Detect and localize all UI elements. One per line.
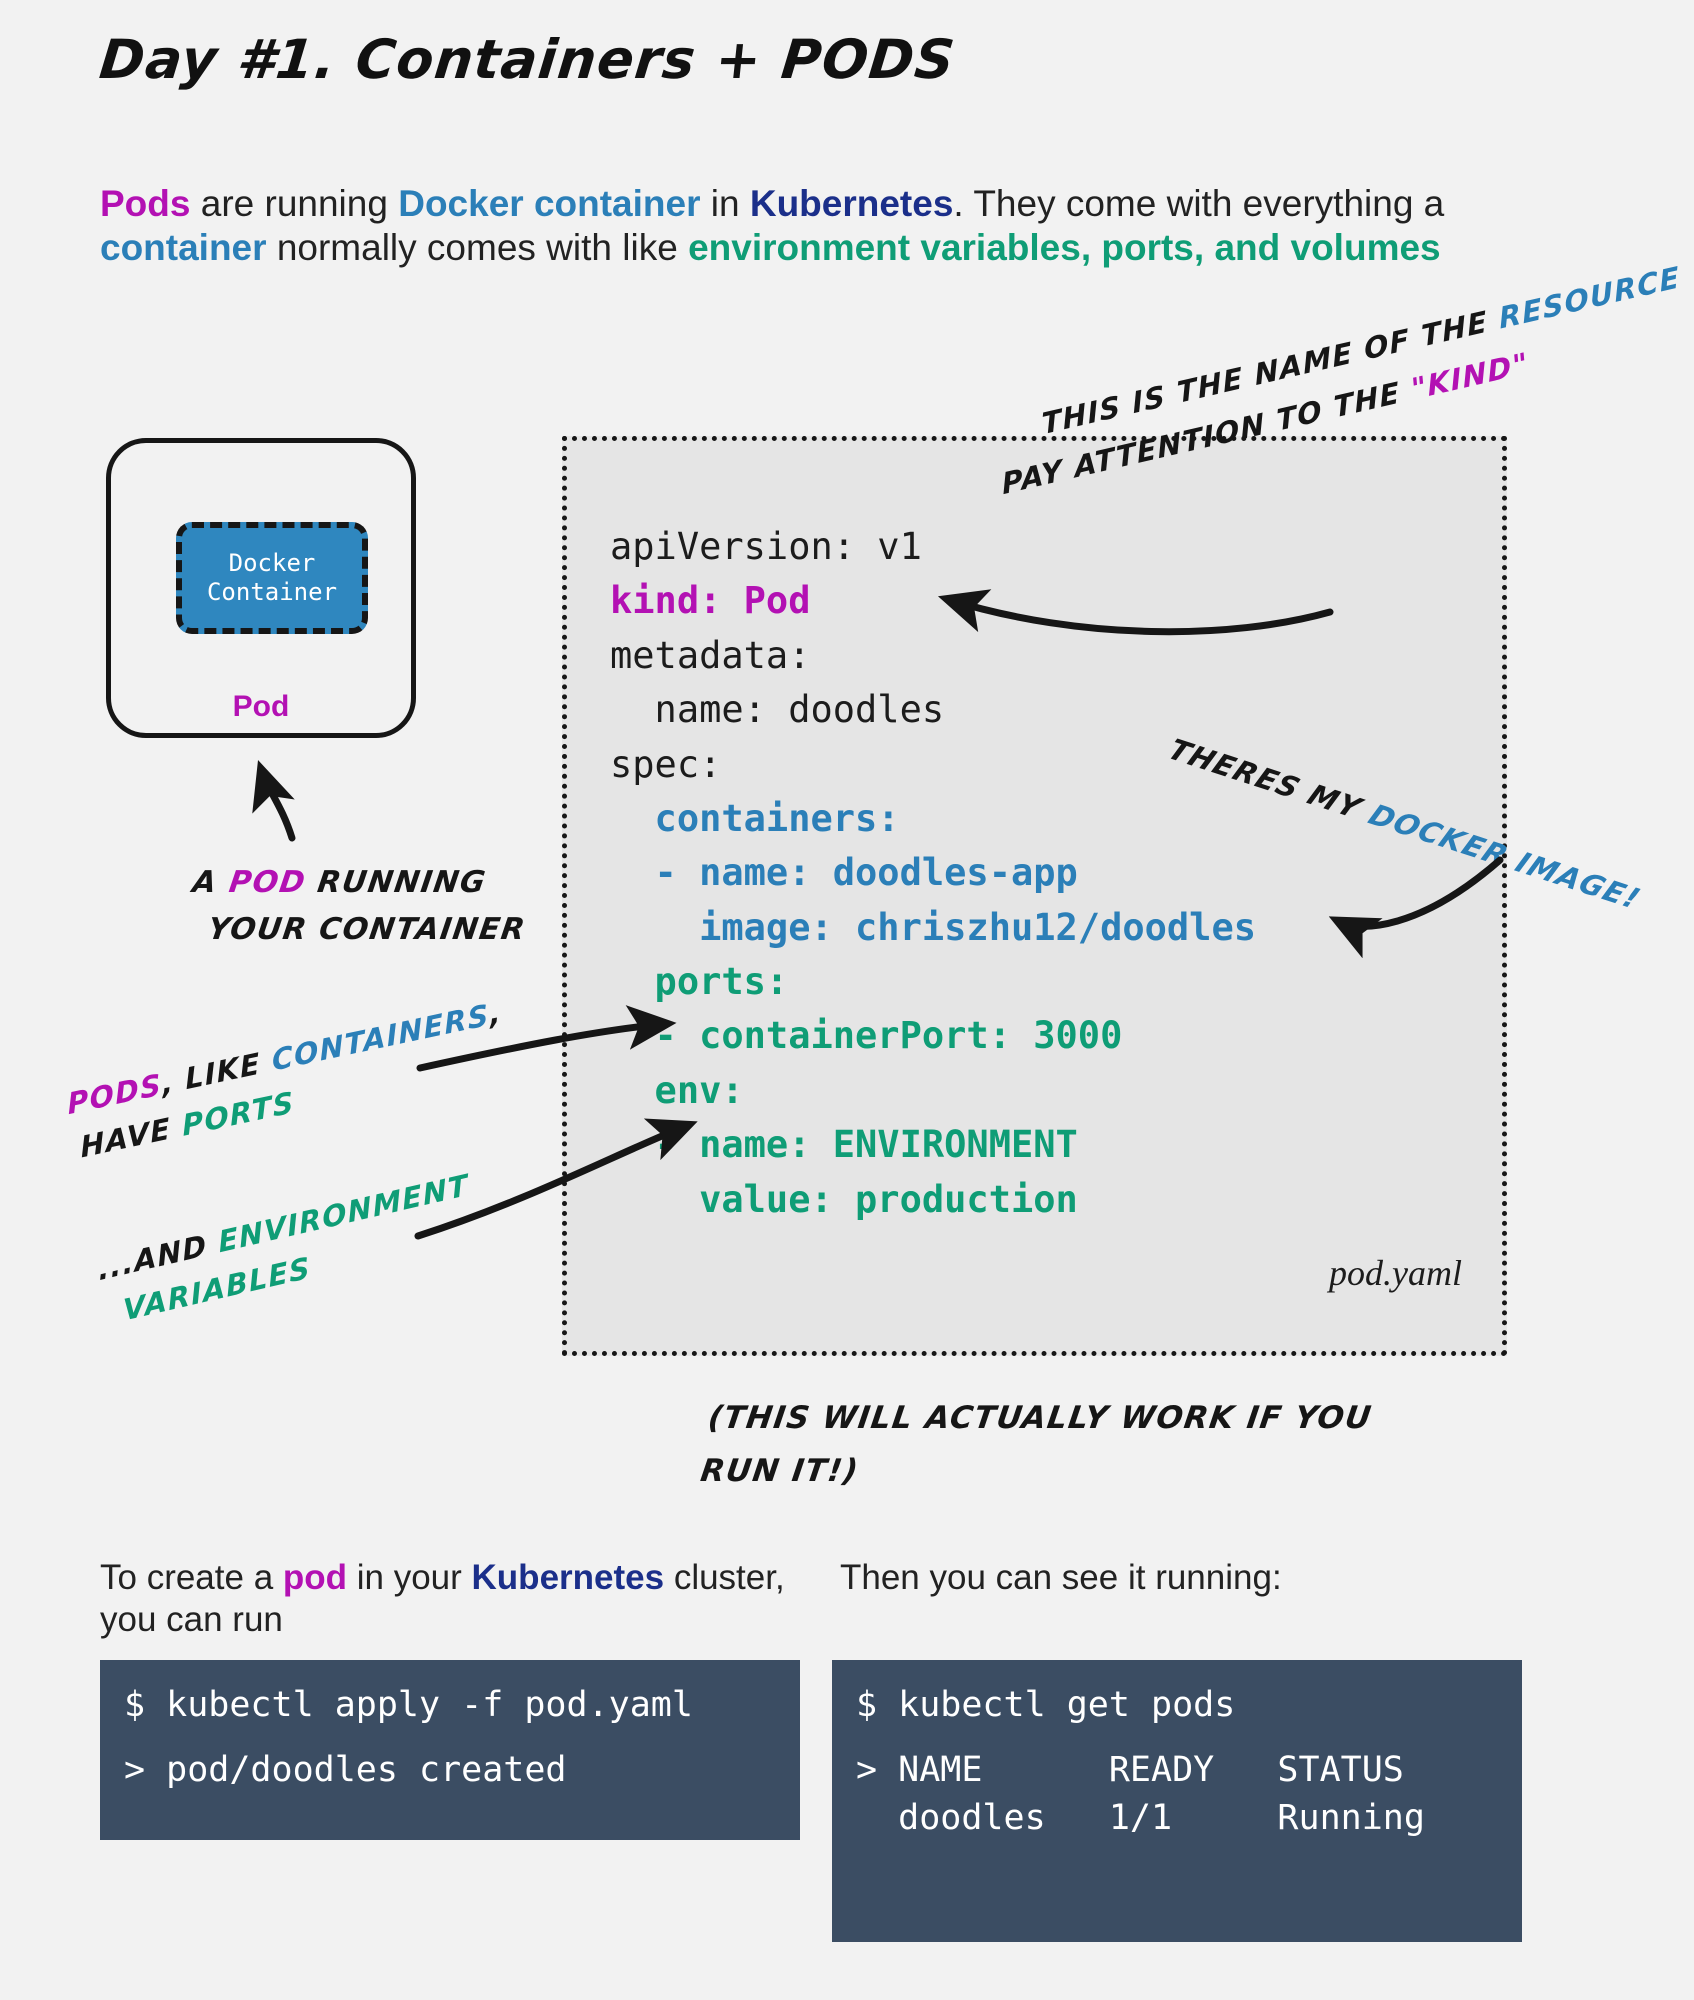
yaml-code-block: apiVersion: v1kind: Podmetadata: name: d… (610, 520, 1256, 1227)
annotation-pod-running-text-b: RUNNING (303, 865, 488, 900)
arrow-pod-running (262, 772, 292, 838)
yaml-line: - containerPort: 3000 (610, 1009, 1256, 1063)
intro-text-4: normally comes with like (267, 227, 689, 268)
docker-container-box: Docker Container (176, 522, 368, 634)
page-title: Day #1. Containers + PODS (97, 28, 959, 91)
annotation-pod-running-term-pod: POD (227, 865, 309, 900)
yaml-line: name: doodles (610, 683, 1256, 737)
left-caption-text-b: in your (347, 1558, 472, 1597)
annotation-pod-running: A POD RUNNING YOUR CONTAINER (183, 860, 536, 953)
left-caption-term-kubernetes: Kubernetes (472, 1558, 665, 1597)
yaml-line: containers: (610, 792, 1256, 846)
annotation-name-of-resource-term: RESOURCE (1498, 260, 1682, 336)
intro-text-2: in (701, 183, 750, 224)
terminal-get-pods-header: > NAME READY STATUS (856, 1747, 1498, 1794)
annotation-pod-running-line2: YOUR CONTAINER (205, 907, 529, 954)
intro-paragraph: Pods are running Docker container in Kub… (100, 182, 1530, 269)
yaml-line: image: chriszhu12/doodles (610, 901, 1256, 955)
pod-label: Pod (106, 690, 416, 724)
yaml-line: spec: (610, 738, 1256, 792)
annotation-pods-have-ports: PODS, LIKE CONTAINERS, HAVE PORTS (66, 990, 506, 1173)
annotation-ports-text-b: , (488, 995, 503, 1032)
terminal-apply-output: > pod/doodles created (124, 1747, 776, 1794)
right-caption: Then you can see it running: (840, 1557, 1540, 1599)
intro-text-3: . They come with everything a (953, 183, 1444, 224)
yaml-line: env: (610, 1064, 1256, 1118)
annotation-this-will-actually-work: (THIS WILL ACTUALLY WORK IF YOU RUN IT!) (697, 1392, 1375, 1497)
terminal-apply-spacer (124, 1729, 776, 1747)
intro-term-docker-container: Docker container (398, 183, 700, 224)
yaml-line: - name: ENVIRONMENT (610, 1118, 1256, 1172)
left-caption-term-pod: pod (283, 1558, 347, 1597)
docker-container-label-line1: Docker (229, 549, 316, 578)
intro-term-pods: Pods (100, 183, 190, 224)
yaml-filename-label: pod.yaml (562, 1252, 1462, 1294)
terminal-apply[interactable]: $ kubectl apply -f pod.yaml> pod/doodles… (100, 1660, 800, 1840)
intro-term-env-ports-volumes: environment variables, ports, and volume… (688, 227, 1441, 268)
annotation-pod-running-text-a: A (190, 865, 231, 900)
annotation-works-line1: (THIS WILL ACTUALLY WORK IF YOU (705, 1392, 1376, 1445)
annotation-and-environment-variables: ...AND ENVIRONMENT VARIABLES (96, 1162, 475, 1338)
yaml-line: ports: (610, 955, 1256, 1009)
yaml-line: value: production (610, 1173, 1256, 1227)
annotation-works-line2: RUN IT!) (697, 1445, 1368, 1498)
intro-term-container: container (100, 227, 267, 268)
left-caption-text-a: To create a (100, 1558, 283, 1597)
terminal-get-pods-command: $ kubectl get pods (856, 1682, 1498, 1729)
terminal-get-pods-spacer (856, 1729, 1498, 1747)
terminal-get-pods-row: doodles 1/1 Running (856, 1795, 1498, 1842)
intro-term-kubernetes: Kubernetes (750, 183, 954, 224)
yaml-line: apiVersion: v1 (610, 520, 1256, 574)
yaml-line: kind: Pod (610, 574, 1256, 628)
terminal-apply-command: $ kubectl apply -f pod.yaml (124, 1682, 776, 1729)
docker-container-label-line2: Container (207, 578, 337, 607)
terminal-get-pods[interactable]: $ kubectl get pods> NAME READY STATUS do… (832, 1660, 1522, 1942)
intro-text-1: are running (190, 183, 398, 224)
yaml-line: - name: doodles-app (610, 846, 1256, 900)
left-caption: To create a pod in your Kubernetes clust… (100, 1557, 800, 1641)
yaml-line: metadata: (610, 629, 1256, 683)
